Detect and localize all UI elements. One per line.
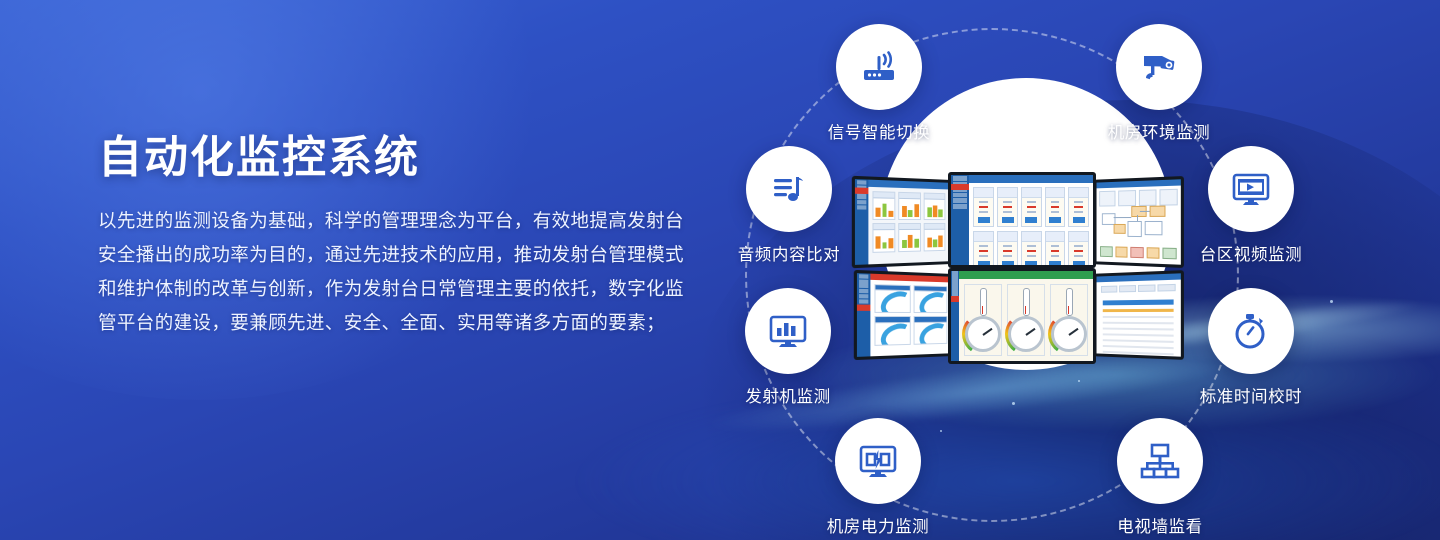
video-wall [852, 172, 1182, 364]
page-title: 自动化监控系统 [98, 132, 698, 184]
feature-node-transmitter-monitor[interactable]: 发射机监测 [703, 288, 873, 407]
feature-label: 电视墙监看 [1075, 513, 1245, 537]
feature-bubble[interactable] [836, 24, 922, 110]
screen-sidebar [951, 175, 969, 265]
feature-node-room-environment[interactable]: 机房环境监测 [1074, 24, 1244, 143]
feature-bubble[interactable] [1208, 288, 1294, 374]
cctv-camera-icon [1136, 44, 1182, 90]
monitor-battery-bolt-icon [855, 438, 901, 484]
monitor-status-panel-list [948, 172, 1096, 268]
feature-bubble[interactable] [745, 288, 831, 374]
feature-node-signal-switch[interactable]: 信号智能切换 [794, 24, 964, 143]
hero-banner: 自动化监控系统 以先进的监测设备为基础，科学的管理理念为平台，有效地提高发射台安… [0, 0, 1440, 540]
feature-label: 信号智能切换 [794, 119, 964, 143]
feature-bubble[interactable] [1117, 418, 1203, 504]
screen-content [969, 175, 1093, 265]
monitor-bar-chart-icon [765, 308, 811, 354]
screen-content [959, 271, 1093, 361]
hero-description: 以先进的监测设备为基础，科学的管理理念为平台，有效地提高发射台安全播出的成功率为… [98, 204, 694, 340]
feature-label: 台区视频监测 [1166, 241, 1336, 265]
feature-label: 发射机监测 [703, 383, 873, 407]
screen-sidebar [951, 271, 959, 361]
feature-label: 标准时间校时 [1166, 383, 1336, 407]
monitor-video-play-icon [1228, 166, 1274, 212]
feature-bubble[interactable] [1208, 146, 1294, 232]
feature-label: 音频内容比对 [704, 241, 874, 265]
audio-note-icon [766, 166, 812, 212]
monitor-temperature-dial-panel [948, 268, 1096, 364]
schematic-diagram [1100, 205, 1176, 246]
feature-node-video-wall[interactable]: 电视墙监看 [1075, 418, 1245, 537]
feature-bubble[interactable] [835, 418, 921, 504]
router-wifi-icon [856, 44, 902, 90]
feature-label: 机房电力监测 [793, 513, 963, 537]
feature-node-audio-compare[interactable]: 音频内容比对 [704, 146, 874, 265]
screen-content [870, 274, 951, 357]
feature-label: 机房环境监测 [1074, 119, 1244, 143]
feature-bubble[interactable] [1116, 24, 1202, 110]
feature-node-room-power[interactable]: 机房电力监测 [793, 418, 963, 537]
stopwatch-icon [1228, 308, 1274, 354]
screen-content [868, 180, 949, 265]
feature-node-time-sync[interactable]: 标准时间校时 [1166, 288, 1336, 407]
video-wall-hierarchy-icon [1137, 438, 1183, 484]
feature-node-area-video[interactable]: 台区视频监测 [1166, 146, 1336, 265]
hero-copy: 自动化监控系统 以先进的监测设备为基础，科学的管理理念为平台，有效地提高发射台安… [98, 132, 698, 340]
feature-bubble[interactable] [746, 146, 832, 232]
